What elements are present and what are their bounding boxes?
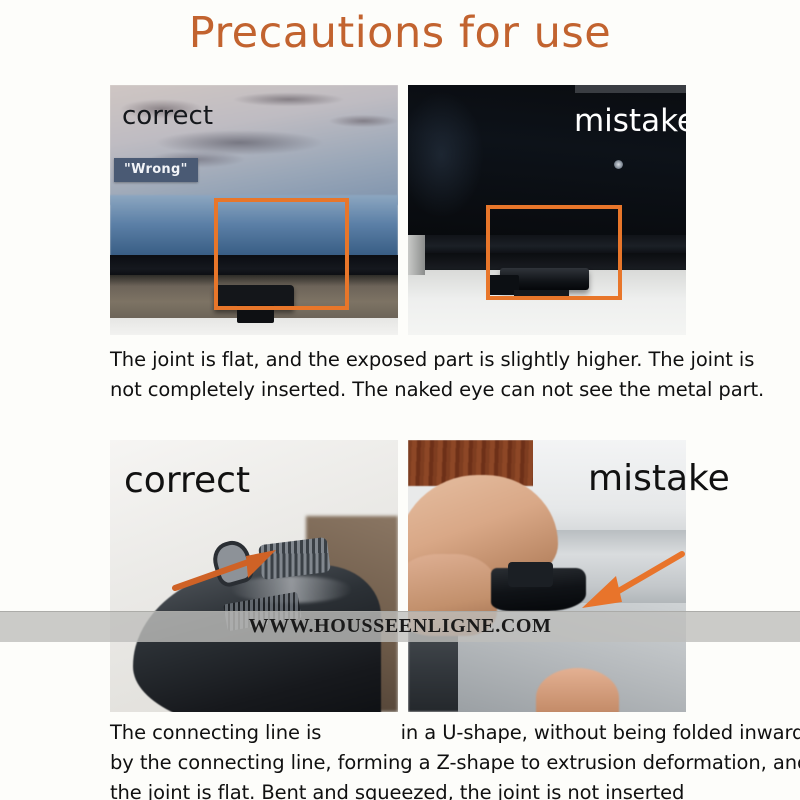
caption-top: The joint is flat, and the exposed part … [110,345,710,405]
orange-highlight-rectangle [486,205,622,300]
caption-top-line-2: not completely inserted. The naked eye c… [110,375,710,405]
caption-top-line-1: The joint is flat, and the exposed part … [110,345,710,375]
orange-highlight-rectangle [214,198,349,311]
caption-bottom-line-1: The connecting line is in a U-shape, wit… [110,718,730,748]
photo-panel-correct-top: correct "Wrong" [110,85,398,335]
panel-label-mistake: mistake [574,103,686,139]
panel-label-mistake: mistake [588,458,730,499]
arrow-down-left-icon [570,550,686,612]
panel-label-correct: correct [124,460,250,501]
page-title: Precautions for use [0,8,800,58]
watermark-text: WWW.HOUSSEENLIGNE.COM [0,611,800,642]
screen-top-edge [575,85,686,93]
panel-label-correct: correct [122,101,213,131]
laptop-side-edge [408,235,425,275]
photo-panel-mistake-top: mistake [408,85,686,335]
caption-bottom-line-3: the joint is flat. Bent and squeezed, th… [110,778,730,800]
caption-bottom-line-2: by the connecting line, forming a Z-shap… [110,748,730,778]
connector-nub [508,562,552,586]
caption-bottom: The connecting line is in a U-shape, wit… [110,718,730,800]
arrow-right-icon [172,548,282,594]
wrong-badge: "Wrong" [114,158,198,182]
reflection-dot [614,160,623,169]
